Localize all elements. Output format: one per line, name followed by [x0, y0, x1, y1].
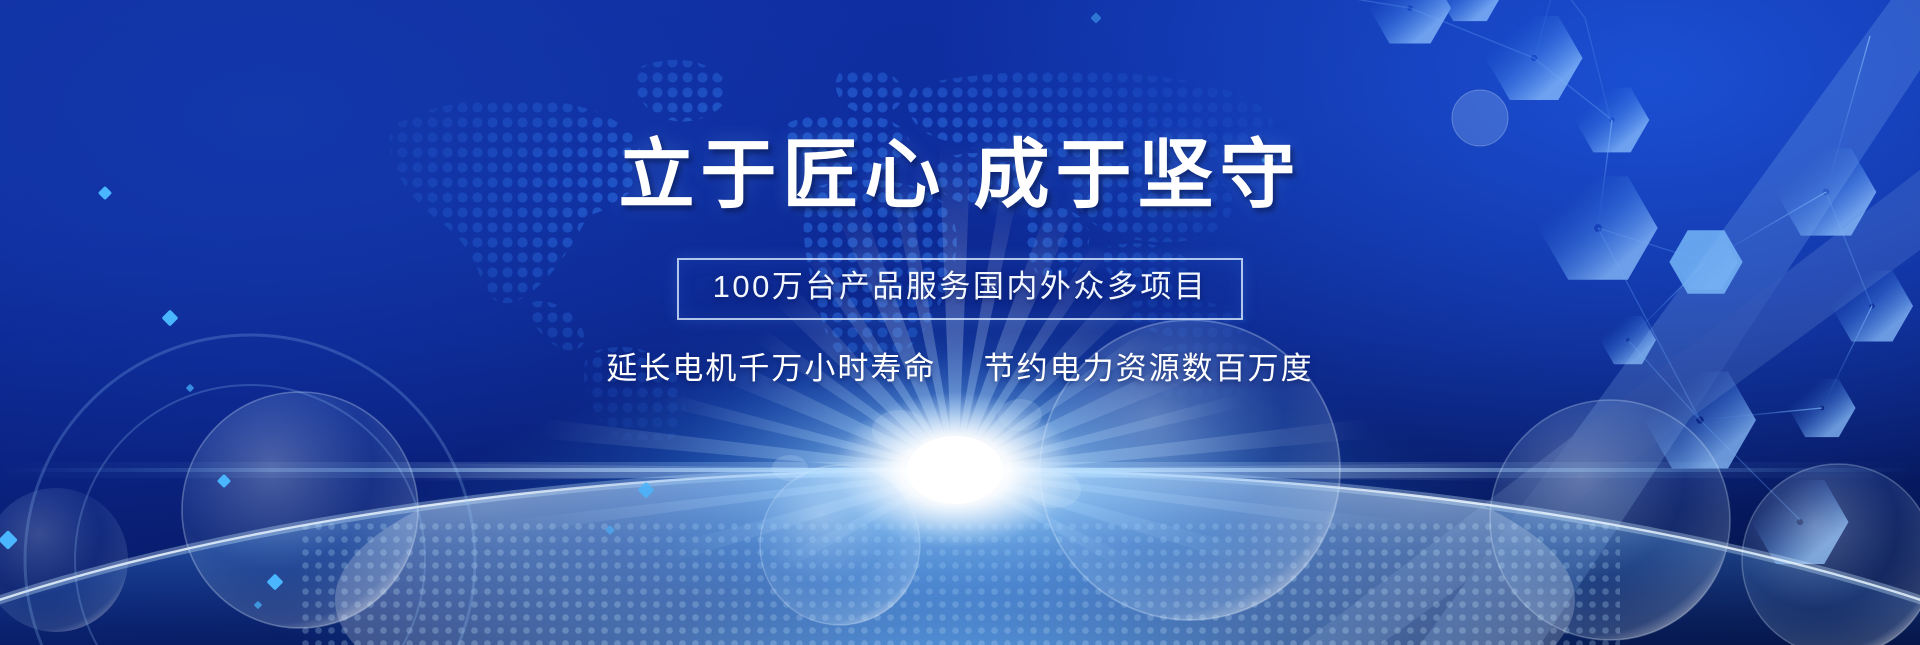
tagline-part-1: 延长电机千万小时寿命	[606, 351, 936, 386]
subtitle-text: 100万台产品服务国内外众多项目	[713, 269, 1208, 306]
banner-content: 立于匠心 成于坚守 100万台产品服务国内外众多项目 延长电机千万小时寿命 节约…	[0, 0, 1920, 645]
hero-banner: 立于匠心 成于坚守 100万台产品服务国内外众多项目 延长电机千万小时寿命 节约…	[0, 0, 1920, 645]
page-title: 立于匠心 成于坚守	[618, 138, 1301, 214]
subtitle-box: 100万台产品服务国内外众多项目	[677, 258, 1244, 320]
tagline-part-2: 节约电力资源数百万度	[984, 351, 1314, 386]
tagline: 延长电机千万小时寿命 节约电力资源数百万度	[606, 350, 1313, 387]
